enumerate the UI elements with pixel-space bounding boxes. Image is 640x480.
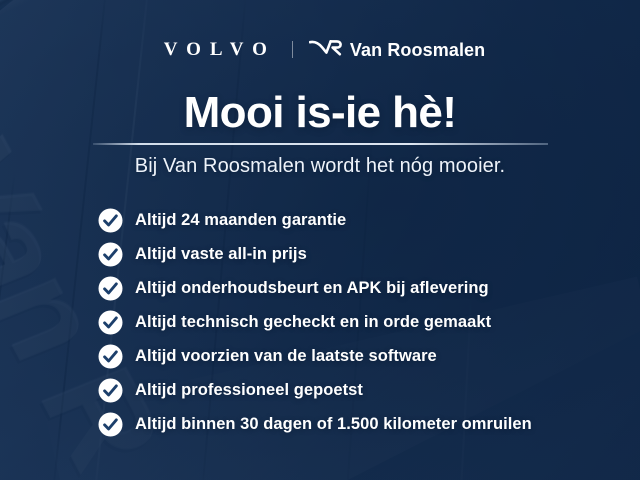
check-circle-icon: [98, 242, 123, 267]
check-circle-icon: [98, 344, 123, 369]
check-circle-icon: [98, 412, 123, 437]
list-item: Altijd professioneel gepoetst: [98, 378, 622, 403]
benefit-label: Altijd onderhoudsbeurt en APK bij afleve…: [135, 279, 489, 298]
list-item: Altijd technisch gecheckt en in orde gem…: [98, 310, 622, 335]
check-circle-icon: [98, 310, 123, 335]
benefit-label: Altijd voorzien van de laatste software: [135, 347, 437, 366]
vr-monogram-icon: [309, 38, 343, 61]
volvo-wordmark: VOLVO: [155, 40, 276, 59]
list-item: Altijd voorzien van de laatste software: [98, 344, 622, 369]
benefit-label: Altijd vaste all-in prijs: [135, 245, 307, 264]
banner-content: VOLVO Van Roosmalen Mooi is-ie hè! Bij V…: [0, 0, 640, 480]
list-item: Altijd binnen 30 dagen of 1.500 kilomete…: [98, 412, 622, 437]
brand-lockup: VOLVO Van Roosmalen: [0, 38, 640, 61]
list-item: Altijd vaste all-in prijs: [98, 242, 622, 267]
benefit-label: Altijd 24 maanden garantie: [135, 211, 346, 230]
check-circle-icon: [98, 208, 123, 233]
page-title: Mooi is-ie hè!: [0, 90, 640, 136]
dealer-name: Van Roosmalen: [350, 41, 485, 59]
vertical-divider-icon: [292, 41, 293, 58]
benefit-label: Altijd technisch gecheckt en in orde gem…: [135, 313, 491, 332]
check-circle-icon: [98, 276, 123, 301]
page-subtitle: Bij Van Roosmalen wordt het nóg mooier.: [0, 155, 640, 178]
benefit-label: Altijd professioneel gepoetst: [135, 381, 363, 400]
benefit-label: Altijd binnen 30 dagen of 1.500 kilomete…: [135, 415, 532, 434]
list-item: Altijd 24 maanden garantie: [98, 208, 622, 233]
list-item: Altijd onderhoudsbeurt en APK bij afleve…: [98, 276, 622, 301]
check-circle-icon: [98, 378, 123, 403]
title-divider: [93, 143, 548, 145]
benefits-list: Altijd 24 maanden garantie Altijd vaste …: [98, 208, 622, 437]
promo-banner: Van R VOLVO Van Roosmalen Mooi is-ie hè!…: [0, 0, 640, 480]
dealer-lockup: Van Roosmalen: [309, 38, 485, 61]
